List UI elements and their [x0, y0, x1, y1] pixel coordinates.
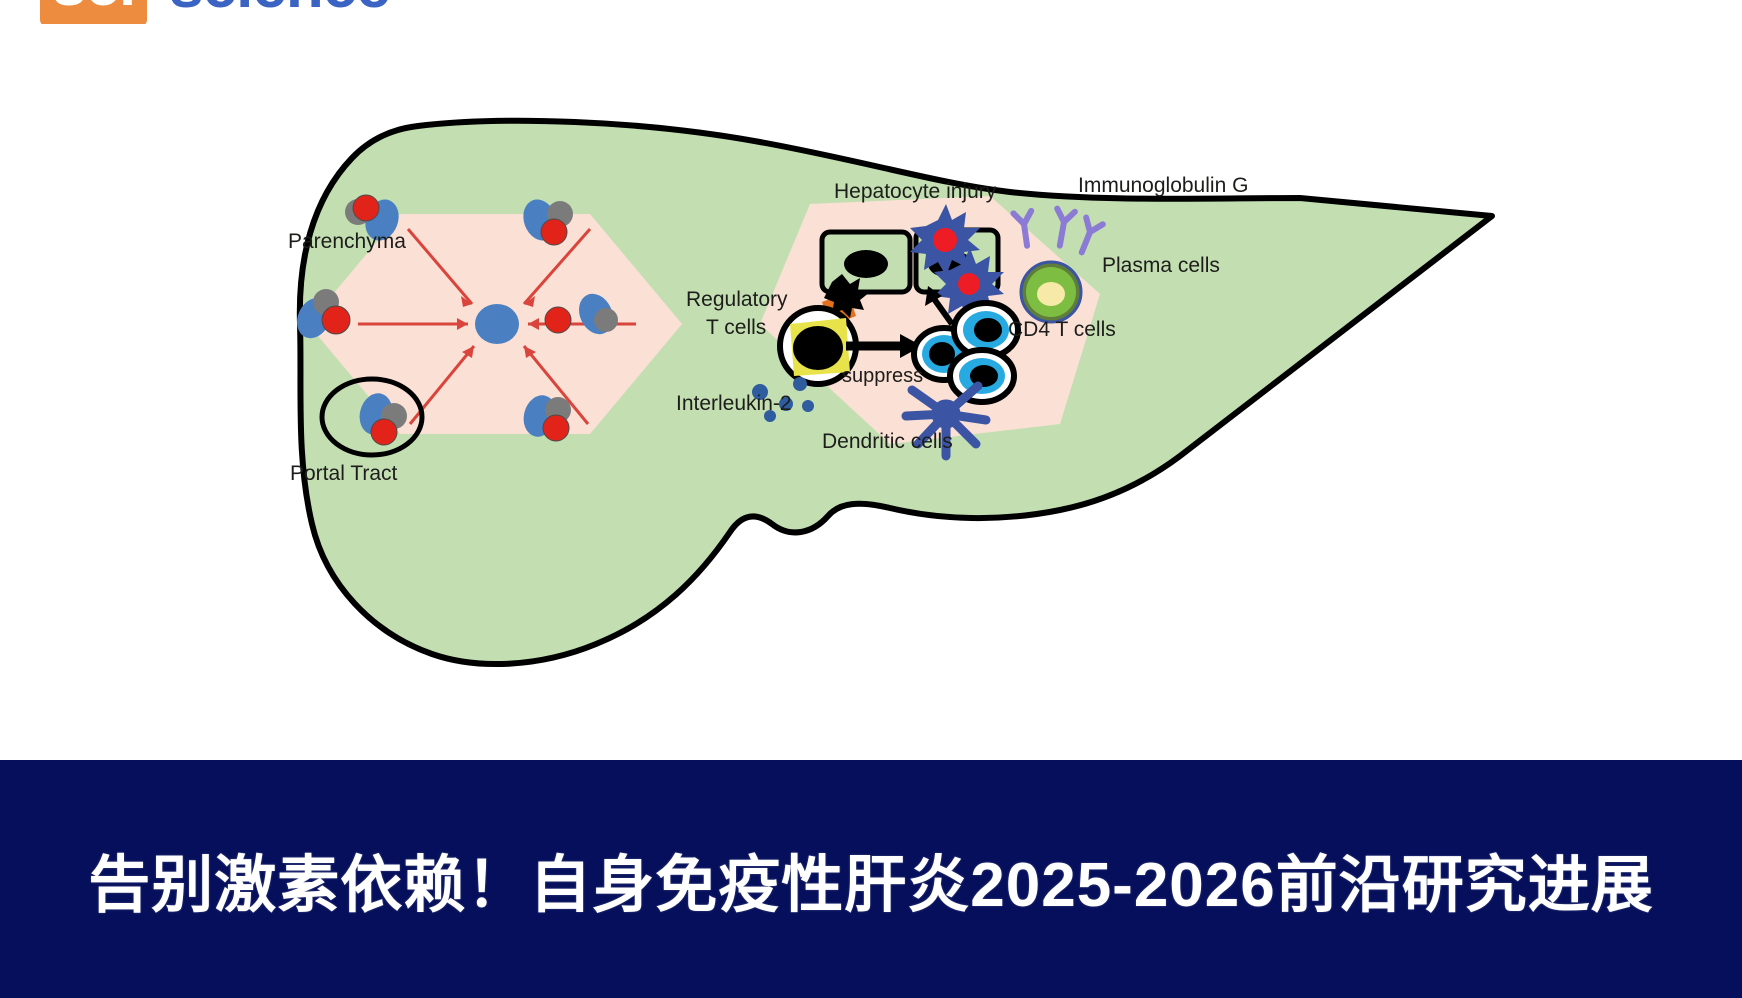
label-immunoglobulin-g: Immunoglobulin G — [1078, 174, 1248, 197]
label-parenchyma: Parenchyma — [288, 230, 406, 253]
label-dendritic-cells: Dendritic cells — [822, 430, 953, 453]
cd4-t-cell — [950, 350, 1014, 402]
label-regulatory-t-cells-line1: Regulatory — [686, 288, 788, 311]
logo-mark-text: sci — [40, 0, 147, 24]
label-plasma-cells: Plasma cells — [1102, 254, 1220, 277]
central-vein — [475, 304, 519, 344]
label-portal-tract: Portal Tract — [290, 462, 398, 485]
site-logo[interactable]: sci science — [40, 0, 390, 24]
label-suppress: suppress — [842, 365, 923, 387]
label-interleukin-2: Interleukin-2 — [676, 392, 792, 415]
banner-title-text: 告别激素依赖！自身免疫性肝炎2025-2026前沿研究进展 — [88, 834, 1654, 924]
logo-word-text: science — [169, 0, 390, 18]
site-logo-strip: sci science — [0, 0, 1742, 24]
plasma-cell — [1021, 262, 1081, 322]
liver-diagram-svg: Parenchyma Portal Tract Regulatory T cel… — [0, 24, 1742, 760]
liver-diagram-container: Parenchyma Portal Tract Regulatory T cel… — [0, 24, 1742, 760]
label-regulatory-t-cells-line2: T cells — [706, 316, 766, 339]
title-banner: 告别激素依赖！自身免疫性肝炎2025-2026前沿研究进展 — [0, 760, 1742, 998]
label-hepatocyte-injury: Hepatocyte injury — [834, 180, 997, 203]
label-cd4-t-cells: CD4 T cells — [1008, 318, 1116, 341]
